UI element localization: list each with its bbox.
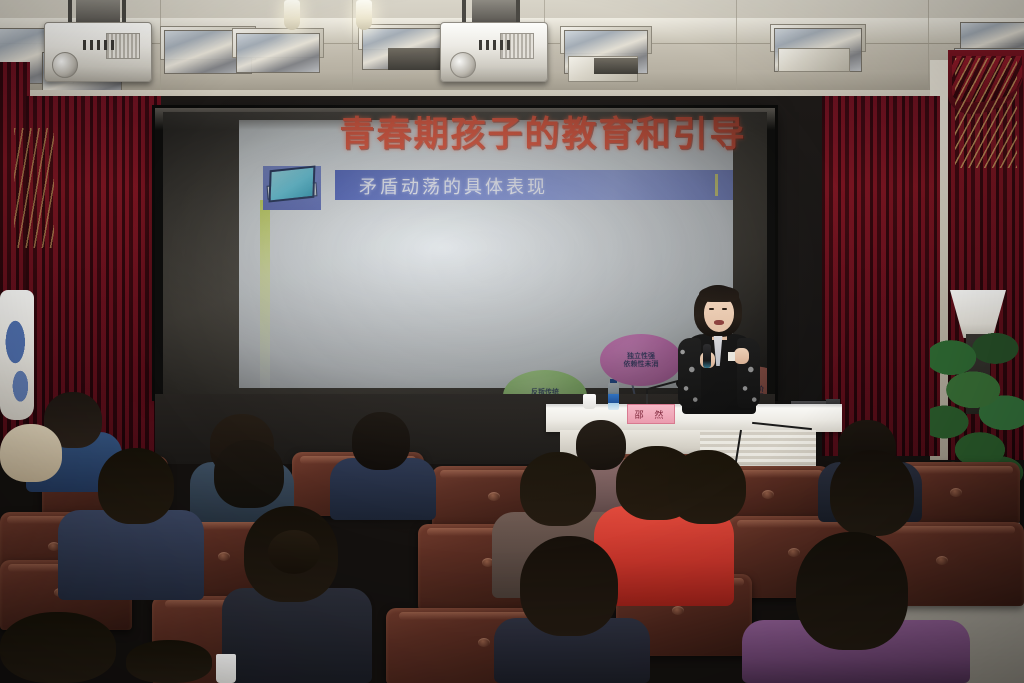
- speaker-sleeve-left: [678, 338, 701, 408]
- paper-cup: [583, 394, 596, 409]
- projector-indicator-lights: [83, 40, 115, 50]
- ceiling-light: [356, 0, 372, 30]
- speaker-name-card: 邵 然: [627, 404, 675, 424]
- open-book-icon: [269, 165, 316, 202]
- audience-head: [796, 532, 908, 650]
- audience-torso: [222, 588, 372, 683]
- ceiling-seam: [928, 0, 929, 96]
- projector-indicator-lights: [479, 40, 511, 50]
- projector-mount: [76, 0, 119, 24]
- audience-head: [520, 536, 618, 636]
- projector-lens-icon: [450, 52, 476, 78]
- slide-accent-strip: [260, 200, 270, 388]
- diagram-node-line: 独立性强: [624, 352, 659, 360]
- diagram-node-line: 反叛传统: [531, 388, 559, 394]
- projector-arm: [516, 0, 520, 24]
- speaker-eye: [722, 308, 727, 310]
- ceiling-seam: [736, 0, 737, 96]
- curtain-tassel-trim: [955, 58, 1017, 168]
- ceiling-reflector-panel: [236, 33, 320, 73]
- ceiling-light: [284, 0, 300, 30]
- diagram-node-top: 独立性强 依赖性未消: [600, 334, 682, 386]
- water-bottle-label: [608, 394, 619, 403]
- speaker-hand-right: [734, 348, 749, 364]
- audience-head-blonde: [0, 424, 62, 482]
- audience-head: [126, 640, 212, 683]
- lecture-hall-photo: 青春期孩子的教育和引导 矛盾动荡的具体表现 独立性强 依赖性未消 反叛传统 标新…: [0, 0, 1024, 683]
- curtain-tassel-trim: [14, 128, 54, 248]
- audience-head: [214, 440, 284, 508]
- slide-bar-tick: [715, 174, 718, 196]
- projection-screen: 青春期孩子的教育和引导 矛盾动荡的具体表现 独立性强 依赖性未消 反叛传统 标新…: [163, 112, 767, 394]
- porcelain-vase: [0, 290, 34, 420]
- projector-arm: [122, 0, 126, 24]
- slide-subtitle: 矛盾动荡的具体表现: [359, 173, 548, 199]
- diagram-node-line: 依赖性未消: [624, 360, 659, 368]
- speaker-mouth: [714, 320, 724, 325]
- ceiling-projector: [44, 0, 152, 84]
- slide-title: 青春期孩子的教育和引导: [243, 118, 767, 153]
- audience-head: [668, 450, 746, 524]
- projector-mount: [472, 0, 515, 24]
- ceiling-projector: [440, 0, 548, 84]
- audience-hair-bun: [268, 530, 320, 574]
- projector-arm: [68, 0, 72, 24]
- speaker-eye: [709, 308, 714, 310]
- audience-head: [830, 450, 914, 536]
- ceiling-seam: [352, 0, 353, 96]
- audience-head: [520, 452, 596, 526]
- speaker-fringe: [699, 286, 739, 302]
- ceiling-slot: [388, 48, 444, 70]
- speaker-badge: [728, 352, 735, 361]
- projector-arm: [462, 0, 466, 24]
- projector-lens-icon: [52, 52, 78, 78]
- audience-head: [0, 612, 116, 683]
- ceiling-panel: [778, 48, 850, 72]
- audience-head: [98, 448, 174, 524]
- paper-cup: [216, 654, 236, 683]
- audience-head: [352, 412, 410, 470]
- ceiling-slot: [594, 58, 638, 74]
- handheld-microphone-icon: [703, 344, 711, 368]
